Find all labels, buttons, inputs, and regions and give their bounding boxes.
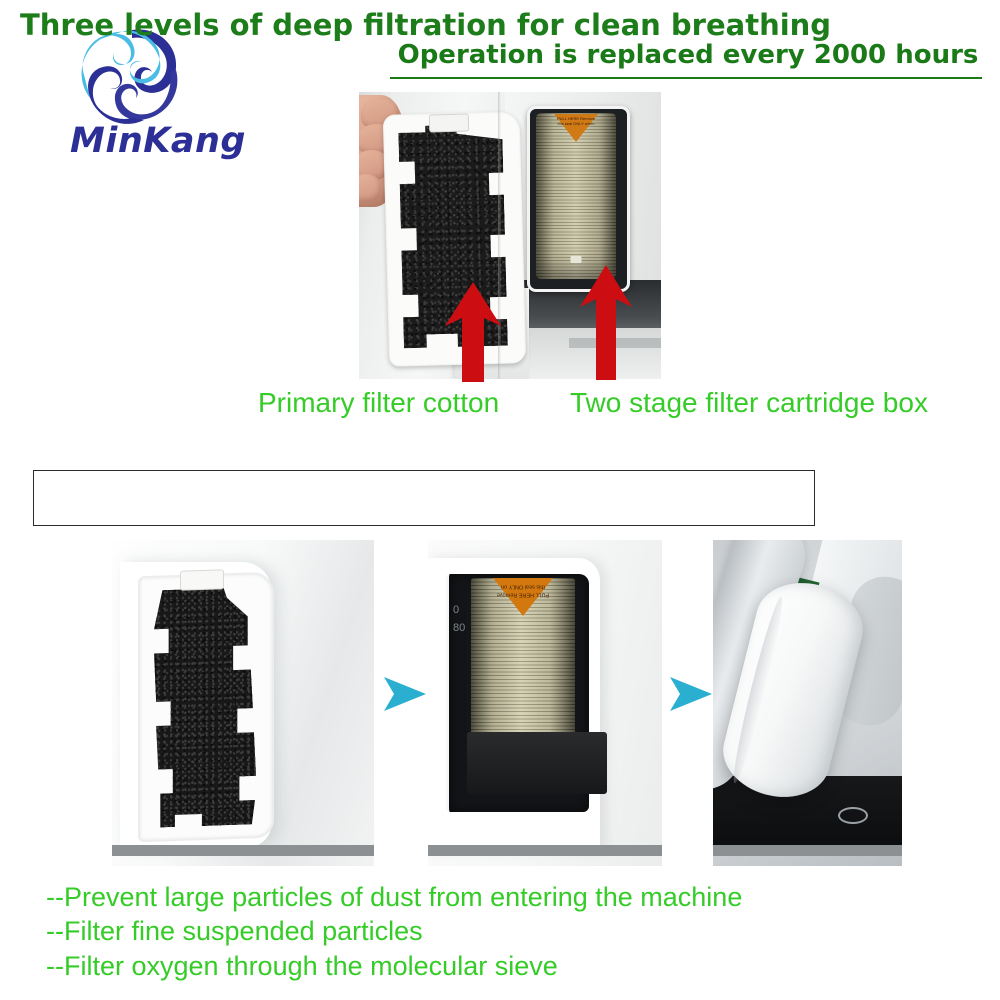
bullet-item: --Prevent large particles of dust from e… xyxy=(46,880,946,914)
bullet-list: --Prevent large particles of dust from e… xyxy=(46,880,946,983)
filmstrip: 0 80 PULL HERE Remove this seal ONLY on xyxy=(112,540,902,866)
bullet-item: --Filter fine suspended particles xyxy=(46,914,946,948)
red-arrow-cartridge-box xyxy=(578,265,634,380)
panel1-filter-tab xyxy=(180,569,224,591)
caption-primary-filter-cotton: Primary filter cotton xyxy=(258,387,499,419)
panel1-shelf xyxy=(112,845,374,856)
brand-wordmark: MinKang xyxy=(70,124,270,159)
panel2-plinth xyxy=(467,732,607,794)
cyan-arrow-step-2-to-3 xyxy=(668,674,714,714)
bullet-item: --Filter oxygen through the molecular si… xyxy=(46,949,946,983)
top-headline: Operation is replaced every 2000 hours xyxy=(390,40,986,70)
orange-warning-label-text: PULL HERE Remove this seal ONLY when xyxy=(556,116,596,126)
panel2-shelf xyxy=(428,845,662,856)
caption-two-stage-cartridge-box: Two stage filter cartridge box xyxy=(570,387,928,419)
top-headline-underline xyxy=(390,77,982,79)
section-headline-box xyxy=(33,470,815,526)
panel-molecular-sieve xyxy=(713,540,902,866)
panel-two-stage-cartridge: 0 80 PULL HERE Remove this seal ONLY on xyxy=(428,540,662,866)
panel3-shelf xyxy=(713,845,902,856)
orange-warning-label-text: PULL HERE Remove this seal ONLY on xyxy=(496,582,550,597)
panel2-gauge-marks: 0 80 xyxy=(453,602,471,672)
photo-cartridge-notch xyxy=(571,256,582,263)
brand-logo: MinKang xyxy=(70,24,270,154)
red-arrow-primary-filter xyxy=(443,282,503,382)
section-headline: Three levels of deep filtration for clea… xyxy=(20,8,831,43)
panel3-mount-hole xyxy=(838,807,868,824)
photo-filter-tab xyxy=(429,113,469,132)
photo-cartridge: PULL HERE Remove this seal ONLY when xyxy=(536,113,616,279)
panel-primary-filter-installed xyxy=(112,540,374,866)
panel2-bay: 0 80 PULL HERE Remove this seal ONLY on xyxy=(446,574,589,812)
photo-finger xyxy=(359,174,381,202)
cyan-arrow-step-1-to-2 xyxy=(382,674,428,714)
